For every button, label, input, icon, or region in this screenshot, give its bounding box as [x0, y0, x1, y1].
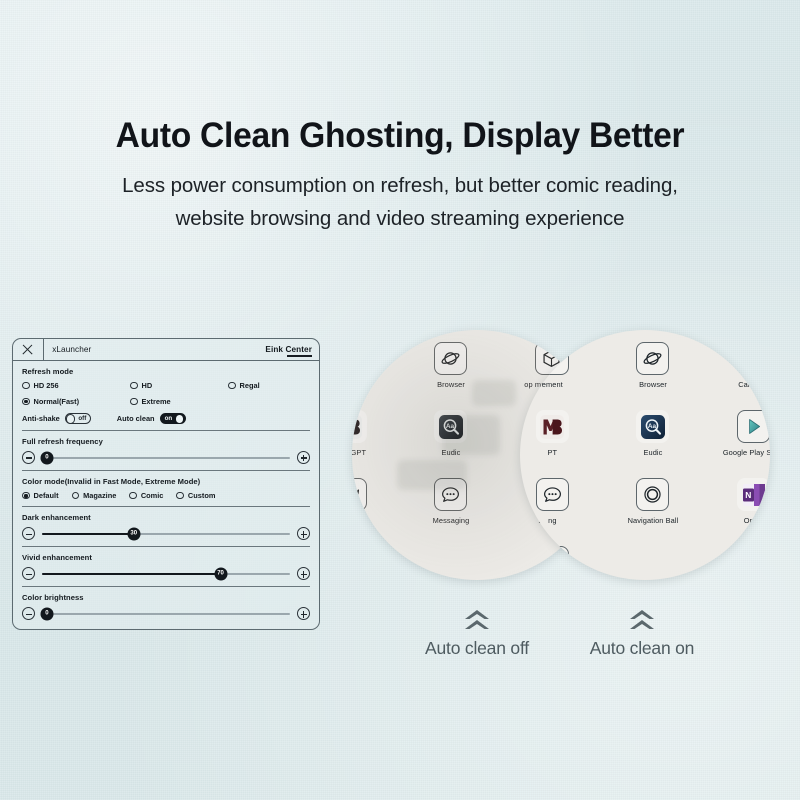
dark-enhancement-fill [42, 533, 134, 535]
app-item[interactable]: PT [520, 410, 603, 478]
radio-hd-indicator [130, 382, 138, 390]
divider-5 [22, 586, 310, 587]
radio-comic-indicator [129, 492, 137, 500]
subtitle-line-1: Less power consumption on refresh, but b… [0, 169, 800, 202]
app-label: Eudic [441, 448, 460, 457]
double-chevron-up-icon [627, 608, 657, 632]
eudic-icon[interactable]: Aa [636, 410, 669, 443]
radio-magazine-label: Magazine [83, 491, 116, 500]
app-label: PT [548, 448, 558, 457]
radio-default[interactable]: Default [22, 491, 59, 500]
plus-circle-icon[interactable] [297, 451, 310, 464]
play-store-icon[interactable] [737, 410, 770, 443]
page-subtitle: Less power consumption on refresh, but b… [0, 169, 800, 235]
refresh-mode-row-1: HD 256 HD Regal [22, 381, 310, 390]
double-chevron-up-icon [462, 608, 492, 632]
minus-circle-icon[interactable] [22, 451, 35, 464]
page-title: Auto Clean Ghosting, Display Better [16, 118, 784, 153]
app-label: anagement [352, 380, 369, 389]
radio-hd256[interactable]: HD 256 [22, 381, 130, 390]
full-refresh-frequency-thumb[interactable]: 0 [40, 451, 53, 464]
mb-logo-icon[interactable] [352, 410, 367, 443]
auto-clean-knob [175, 414, 184, 423]
dark-enhancement-label: Dark enhancement [22, 513, 310, 522]
svg-text:Aa: Aa [446, 423, 455, 430]
app-item[interactable]: Google Play Store [703, 410, 770, 478]
app-item[interactable]: Browser [603, 342, 704, 410]
app-label: ChatGPT [352, 448, 366, 457]
radio-magazine[interactable]: Magazine [72, 491, 117, 500]
slider-dark-enhancement: Dark enhancement 30 [22, 513, 310, 540]
divider-1 [22, 430, 310, 431]
app-label: Calendar [738, 380, 769, 389]
app-item[interactable] [352, 546, 401, 580]
box-3d-icon[interactable] [536, 342, 569, 375]
anti-shake-toggle[interactable]: off [65, 413, 91, 424]
caption-auto-clean-on: Auto clean on [557, 608, 727, 659]
radio-extreme-label: Extreme [142, 397, 171, 406]
vivid-enhancement-row: 70 [22, 567, 310, 580]
app-label: Browser [639, 380, 667, 389]
dark-enhancement-thumb[interactable]: 30 [127, 527, 140, 540]
refresh-mode-label: Refresh mode [22, 367, 310, 376]
auto-clean-toggle[interactable]: on [160, 413, 186, 424]
app-grid-clean: ement Browser Calendar PT AaEudic Google… [520, 330, 770, 580]
color-brightness-row: 0 [22, 607, 310, 620]
toggle-row: Anti-shake off Auto clean on [22, 413, 310, 424]
eudic-icon[interactable]: Aa [434, 410, 467, 443]
divider-3 [22, 506, 310, 507]
minus-circle-icon[interactable] [22, 567, 35, 580]
chat-bubble-icon[interactable] [434, 478, 467, 511]
app-label: ement [542, 380, 563, 389]
header-divider [43, 339, 44, 360]
planet-icon[interactable] [434, 342, 467, 375]
color-mode-row: Default Magazine Comic Custom [22, 491, 310, 500]
plus-circle-icon[interactable] [297, 607, 310, 620]
color-mode-label: Color mode(Invalid in Fast Mode, Extreme… [22, 477, 310, 486]
app-label: Eudic [643, 448, 662, 457]
caption-auto-clean-off: Auto clean off [392, 608, 562, 659]
full-refresh-frequency-label: Full refresh frequency [22, 437, 310, 446]
navigation-ball-icon[interactable] [636, 478, 669, 511]
radio-regal-label: Regal [240, 381, 260, 390]
app-item[interactable]: ChatGPT [352, 410, 401, 478]
app-item[interactable]: Navigation Ball [603, 478, 704, 546]
vivid-enhancement-track[interactable]: 70 [42, 573, 290, 575]
full-refresh-frequency-track[interactable]: 0 [42, 457, 290, 459]
app-item[interactable]: omiza... [352, 478, 401, 546]
radio-comic[interactable]: Comic [129, 491, 163, 500]
radio-regal-indicator [228, 382, 236, 390]
app-item[interactable]: AaEudic [401, 410, 502, 478]
dark-enhancement-track[interactable]: 30 [42, 533, 290, 535]
radio-custom-label: Custom [188, 491, 216, 500]
app-item[interactable]: ng [520, 478, 603, 546]
eink-settings-panel: xLauncher Eink Center Refresh mode HD 25… [12, 338, 320, 630]
gear-icon[interactable] [352, 546, 367, 579]
radio-normal-fast[interactable]: Normal(Fast) [22, 397, 130, 406]
color-brightness-track[interactable]: 0 [42, 613, 290, 615]
auto-clean-label: Auto clean [117, 414, 155, 423]
radio-comic-label: Comic [141, 491, 164, 500]
plus-circle-icon[interactable] [297, 527, 310, 540]
anti-shake-knob [66, 414, 75, 423]
auto-clean-state: on [165, 415, 173, 423]
radio-custom-indicator [176, 492, 184, 500]
app-item[interactable] [520, 546, 603, 580]
caption-on-label: Auto clean on [590, 638, 694, 658]
dark-enhancement-row: 30 [22, 527, 310, 540]
anti-shake-label: Anti-shake [22, 414, 60, 423]
tab-eink-center[interactable]: Eink Center [265, 345, 312, 354]
full-refresh-frequency-row: 0 [22, 451, 310, 464]
app-label: OneN [744, 516, 764, 525]
radio-magazine-indicator [72, 492, 80, 500]
vivid-enhancement-label: Vivid enhancement [22, 553, 310, 562]
slider-color-brightness: Color brightness 0 [22, 593, 310, 620]
radio-normal-fast-indicator [22, 398, 30, 406]
app-management-icon[interactable] [352, 342, 367, 375]
color-brightness-label: Color brightness [22, 593, 310, 602]
mb-logo-icon[interactable] [536, 410, 569, 443]
calendar-icon[interactable] [737, 342, 770, 375]
vivid-enhancement-fill [42, 573, 221, 575]
radio-normal-fast-label: Normal(Fast) [34, 397, 80, 406]
app-label: Messaging [433, 516, 470, 525]
app-label: ng [548, 516, 556, 525]
app-item[interactable]: NOneN [703, 478, 770, 546]
app-item[interactable]: Calendar [703, 342, 770, 410]
close-icon[interactable] [20, 342, 35, 357]
plus-circle-icon[interactable] [297, 567, 310, 580]
subtitle-line-2: website browsing and video streaming exp… [0, 202, 800, 235]
app-item[interactable]: Browser [401, 342, 502, 410]
planet-icon[interactable] [636, 342, 669, 375]
app-item[interactable]: AaEudic [603, 410, 704, 478]
panel-header: xLauncher Eink Center [13, 339, 319, 361]
svg-text:N: N [745, 490, 751, 500]
caption-off-label: Auto clean off [425, 638, 529, 658]
slider-full-refresh-frequency: Full refresh frequency 0 [22, 437, 310, 464]
chat-bubble-icon[interactable] [536, 478, 569, 511]
app-label: omiza... [352, 516, 364, 525]
radio-hd-label: HD [142, 381, 153, 390]
magnifier-auto-clean-on: ement Browser Calendar PT AaEudic Google… [520, 330, 770, 580]
gear-icon[interactable] [536, 546, 569, 579]
tab-active-underline [287, 355, 312, 357]
color-brightness-thumb[interactable]: 0 [40, 607, 53, 620]
app-label: Google Play Store [723, 448, 770, 457]
app-label: Browser [437, 380, 465, 389]
app-item[interactable]: ement [520, 342, 603, 410]
radio-regal[interactable]: Regal [228, 381, 260, 390]
app-label: Navigation Ball [628, 516, 679, 525]
headline-block: Auto Clean Ghosting, Display Better Less… [0, 118, 800, 235]
onenote-icon[interactable]: N [737, 478, 770, 511]
slider-vivid-enhancement: Vivid enhancement 70 [22, 553, 310, 580]
minus-circle-icon[interactable] [22, 607, 35, 620]
panel-body: Refresh mode HD 256 HD Regal Normal(Fast… [13, 361, 319, 629]
radio-extreme-indicator [130, 398, 138, 406]
tab-eink-center-label: Eink Center [265, 345, 312, 354]
divider-2 [22, 470, 310, 471]
vivid-enhancement-thumb[interactable]: 70 [214, 567, 227, 580]
crown-icon[interactable] [352, 478, 367, 511]
svg-text:Aa: Aa [648, 423, 657, 430]
radio-hd[interactable]: HD [130, 381, 228, 390]
radio-extreme[interactable]: Extreme [130, 397, 171, 406]
anti-shake-state: off [78, 415, 86, 423]
app-item[interactable]: anagement [352, 342, 401, 410]
radio-custom[interactable]: Custom [176, 491, 215, 500]
refresh-mode-row-2: Normal(Fast) Extreme [22, 397, 310, 406]
divider-4 [22, 546, 310, 547]
radio-default-indicator [22, 492, 30, 500]
app-item[interactable]: Messaging [401, 478, 502, 546]
radio-hd256-label: HD 256 [34, 381, 59, 390]
minus-circle-icon[interactable] [22, 527, 35, 540]
radio-hd256-indicator [22, 382, 30, 390]
app-name-label: xLauncher [52, 345, 91, 354]
radio-default-label: Default [34, 491, 59, 500]
